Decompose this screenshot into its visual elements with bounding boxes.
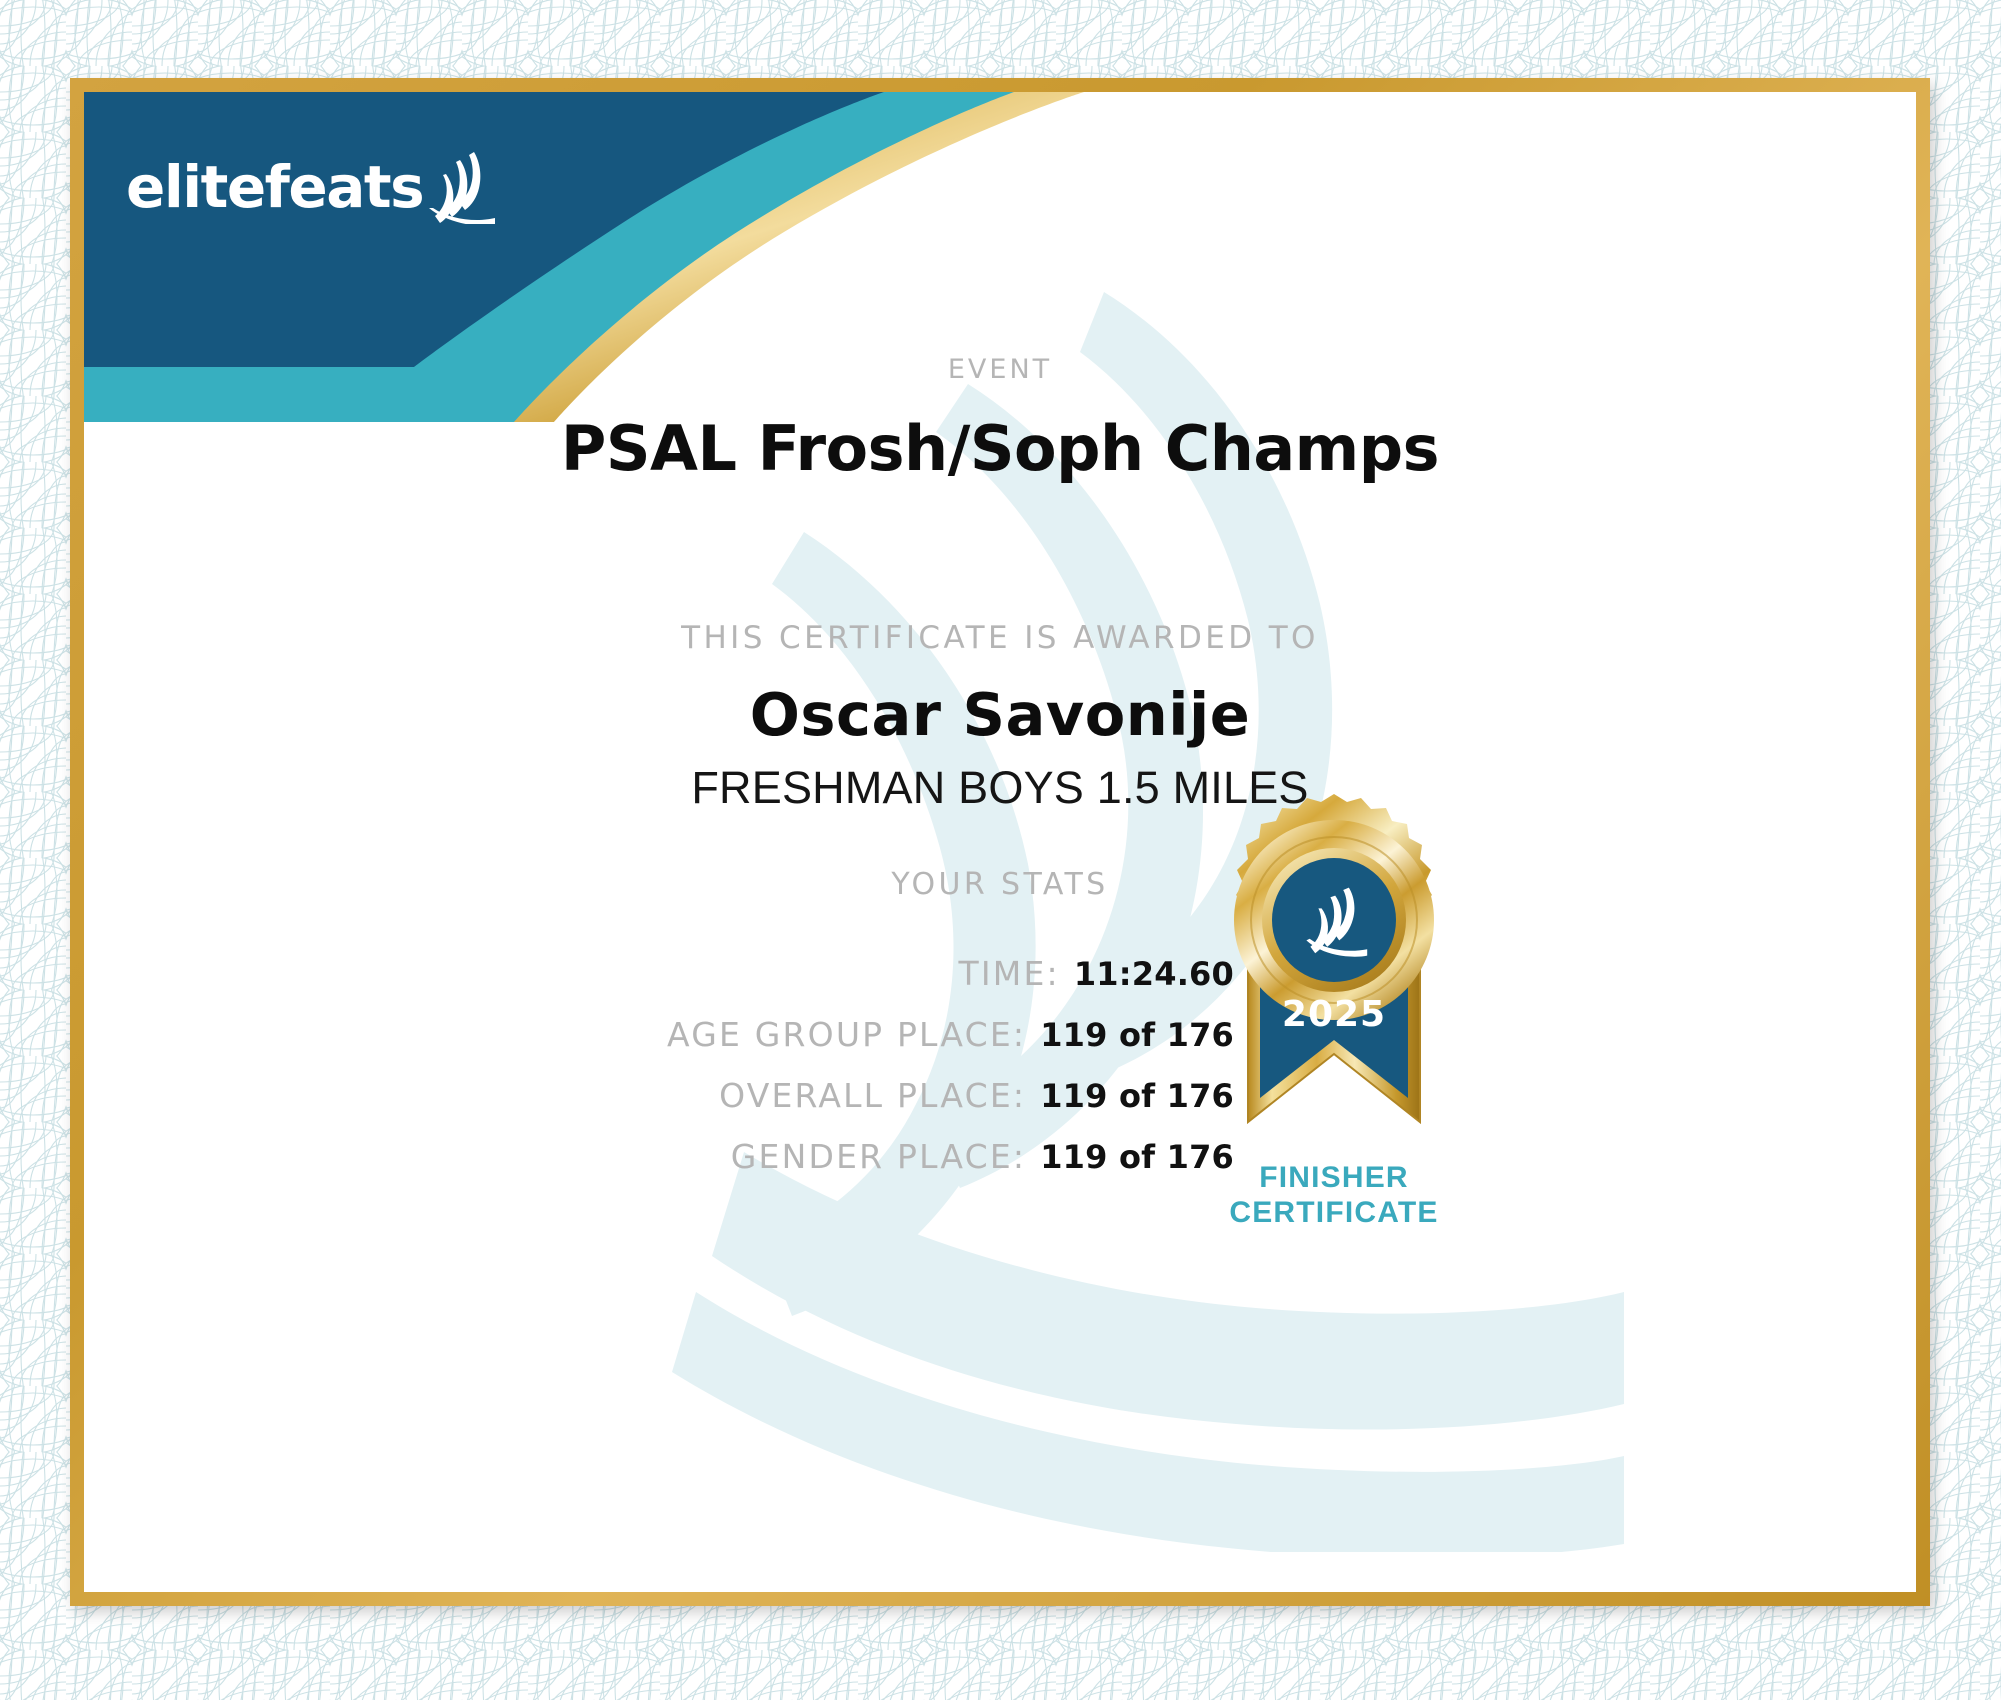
division-name: FRESHMAN BOYS 1.5 MILES (84, 762, 1916, 814)
stat-row-time: TIME: 11:24.60 (414, 954, 1234, 993)
finisher-caption-line2: CERTIFICATE (1174, 1195, 1494, 1230)
stat-label: TIME: (959, 954, 1060, 993)
logo-wordmark: elitefeats (126, 158, 423, 216)
stat-row-age-group-place: AGE GROUP PLACE: 119 of 176 (414, 1015, 1234, 1054)
finisher-medal: 2025 (1184, 792, 1484, 1212)
elitefeats-logo: elitefeats (126, 150, 497, 224)
medal-graphic: 2025 (1184, 792, 1484, 1152)
stat-label: GENDER PLACE: (731, 1137, 1026, 1176)
recipient-name: Oscar Savonije (84, 680, 1916, 749)
your-stats-label: YOUR STATS (84, 867, 1916, 902)
stat-row-gender-place: GENDER PLACE: 119 of 176 (414, 1137, 1234, 1176)
event-label: EVENT (84, 354, 1916, 385)
certificate-page: elitefeats EVENT PSAL Frosh/Soph Champs … (0, 0, 2001, 1700)
stats-list: TIME: 11:24.60 AGE GROUP PLACE: 119 of 1… (414, 954, 1234, 1198)
stat-label: OVERALL PLACE: (719, 1076, 1026, 1115)
gold-frame: elitefeats EVENT PSAL Frosh/Soph Champs … (70, 78, 1930, 1606)
stat-label: AGE GROUP PLACE: (667, 1015, 1026, 1054)
awarded-to-label: THIS CERTIFICATE IS AWARDED TO (84, 620, 1916, 656)
finisher-caption-line1: FINISHER (1174, 1160, 1494, 1195)
event-name: PSAL Frosh/Soph Champs (84, 412, 1916, 485)
stat-row-overall-place: OVERALL PLACE: 119 of 176 (414, 1076, 1234, 1115)
winged-foot-icon (427, 150, 497, 224)
certificate-canvas: elitefeats EVENT PSAL Frosh/Soph Champs … (84, 92, 1916, 1592)
medal-year: 2025 (1282, 994, 1386, 1035)
finisher-caption: FINISHER CERTIFICATE (1174, 1160, 1494, 1231)
